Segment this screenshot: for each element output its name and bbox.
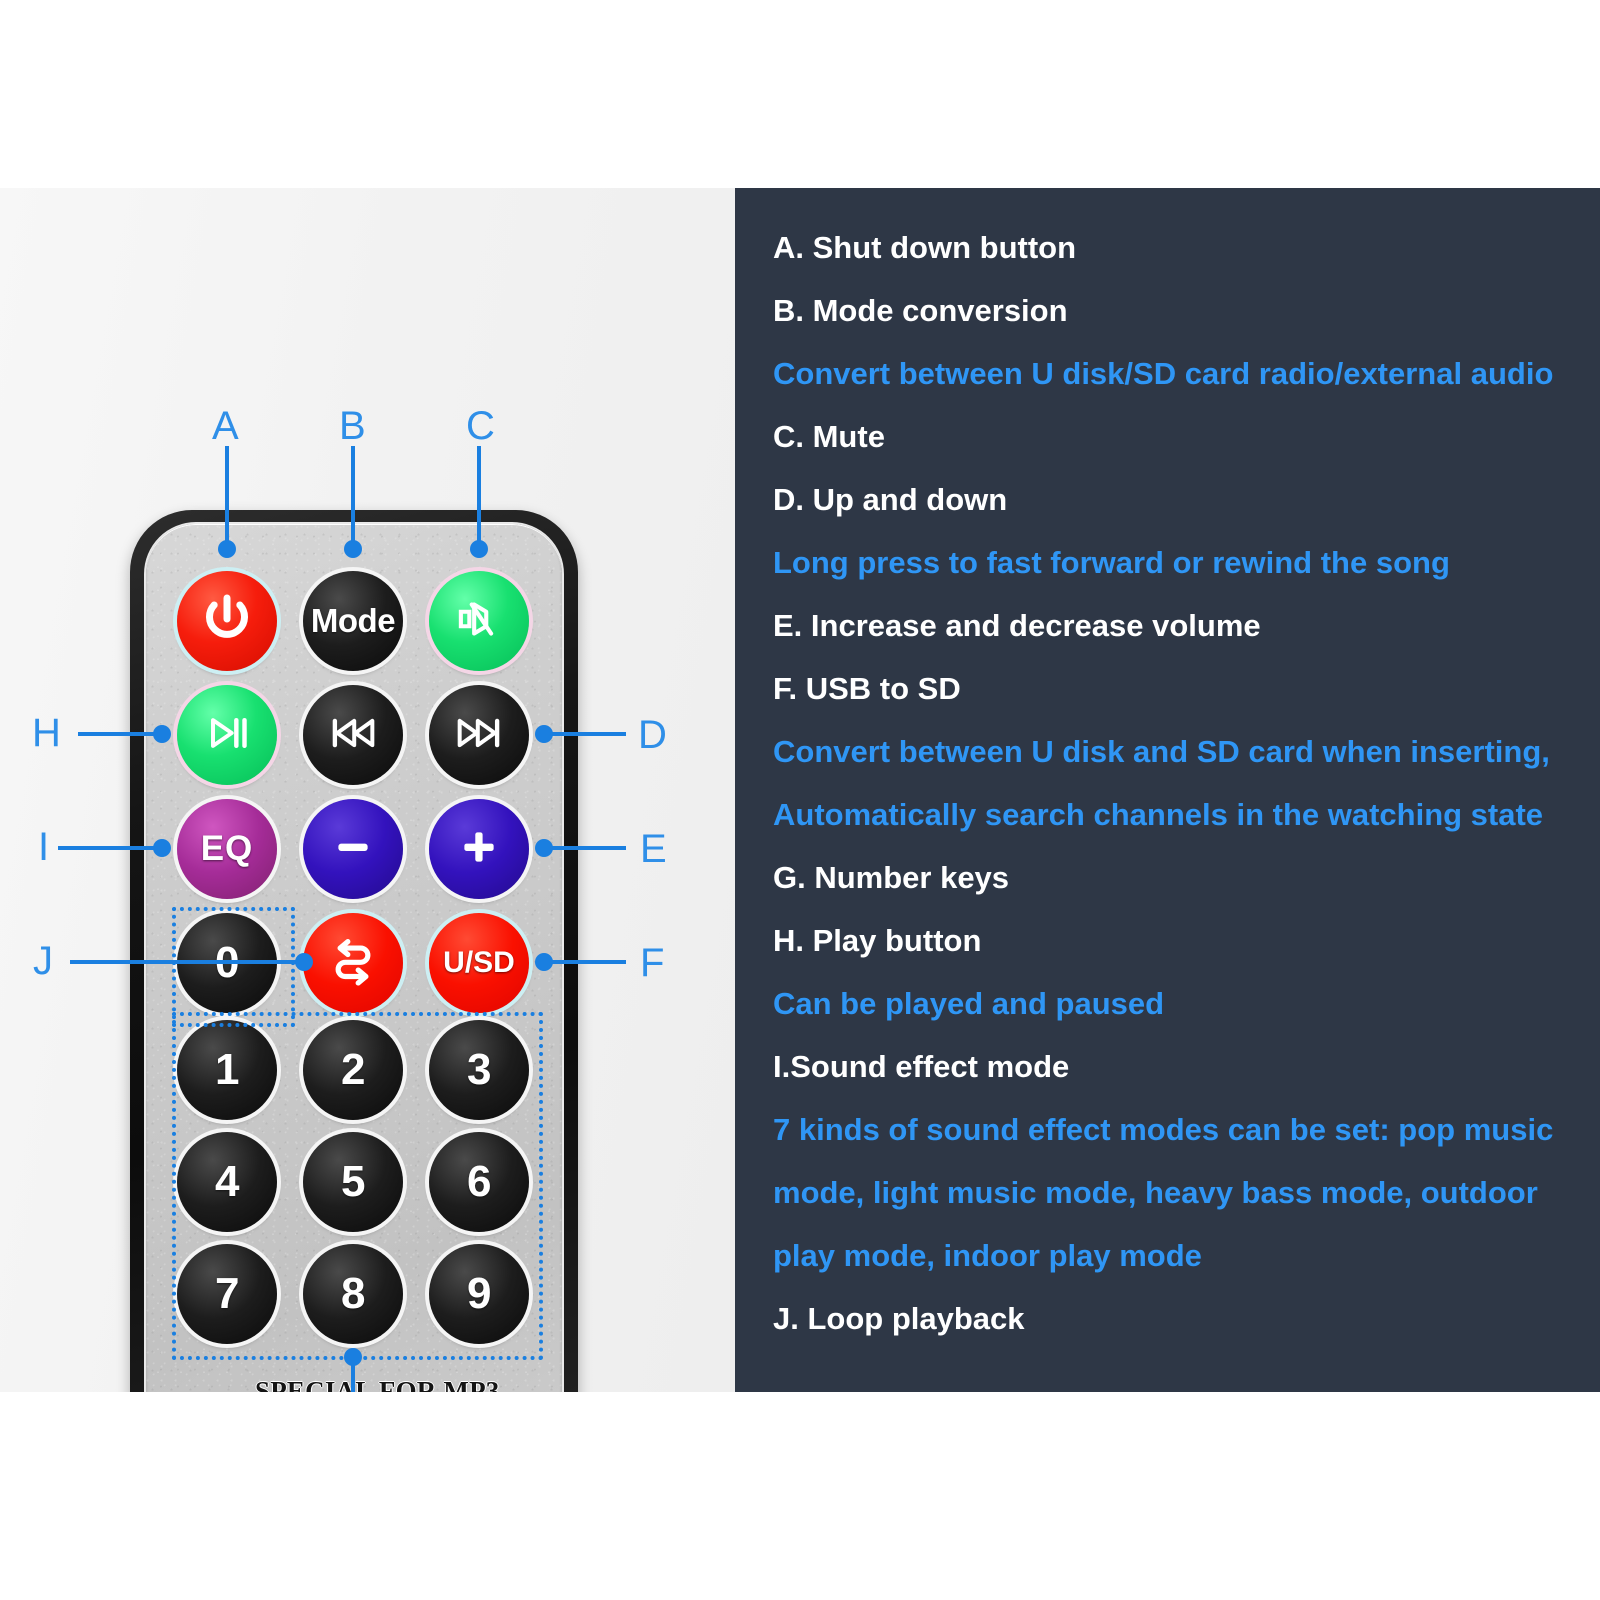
legend-g-title: G. Number keys — [773, 862, 1009, 893]
loop-key-highlight-box — [172, 907, 295, 1027]
legend-item-g: G. Number keys — [773, 846, 1590, 909]
legend-panel: A. Shut down button B. Mode conversion C… — [735, 188, 1600, 1392]
callout-e-line — [546, 846, 626, 850]
volume-up-button[interactable] — [429, 799, 529, 899]
mode-button-label: Mode — [311, 602, 395, 640]
legend-j-title: J. Loop playback — [773, 1303, 1025, 1334]
callout-i-dot — [153, 839, 171, 857]
legend-item-i: I.Sound effect mode — [773, 1035, 1590, 1098]
legend-item-b: B. Mode conversion — [773, 279, 1590, 342]
legend-a-title: A. Shut down button — [773, 232, 1076, 263]
usb-to-sd-button[interactable]: U/SD — [429, 913, 529, 1013]
legend-e-title: E. Increase and decrease volume — [773, 610, 1261, 641]
next-track-icon — [450, 704, 508, 767]
usb-to-sd-button-label: U/SD — [443, 946, 515, 980]
callout-e-label: E — [640, 829, 667, 869]
legend-item-c: C. Mute — [773, 405, 1590, 468]
callout-h-dot — [153, 725, 171, 743]
legend-i-desc-3: play mode, indoor play mode — [773, 1240, 1202, 1271]
brand-text: SPECIAL FOR MP3 — [255, 1376, 500, 1392]
plus-icon — [452, 820, 506, 879]
legend-item-f: F. USB to SD — [773, 657, 1590, 720]
screenshot-root: Mode — [0, 0, 1600, 1600]
previous-track-icon — [324, 704, 382, 767]
eq-button[interactable]: EQ — [177, 799, 277, 899]
callout-d-label: D — [638, 715, 667, 755]
next-track-button[interactable] — [429, 685, 529, 785]
callout-b-dot — [344, 540, 362, 558]
loop-playback-button[interactable] — [303, 913, 403, 1013]
eq-button-label: EQ — [201, 829, 254, 869]
legend-h-title: H. Play button — [773, 925, 981, 956]
legend-item-a: A. Shut down button — [773, 216, 1590, 279]
callout-i-line — [58, 846, 163, 850]
callout-e-dot — [535, 839, 553, 857]
legend-item-f-desc-1: Convert between U disk and SD card when … — [773, 720, 1590, 783]
minus-icon — [326, 820, 380, 879]
callout-a-line — [225, 446, 229, 549]
legend-b-desc: Convert between U disk/SD card radio/ext… — [773, 358, 1553, 389]
legend-f-desc-1: Convert between U disk and SD card when … — [773, 736, 1550, 767]
callout-c-dot — [470, 540, 488, 558]
power-icon — [199, 591, 255, 652]
legend-i-desc-1: 7 kinds of sound effect modes can be set… — [773, 1114, 1553, 1145]
play-pause-button[interactable] — [177, 685, 277, 785]
callout-b-label: B — [339, 406, 366, 446]
legend-item-d-desc: Long press to fast forward or rewind the… — [773, 531, 1590, 594]
callout-c-line — [477, 446, 481, 549]
number-keys-highlight-box — [172, 1012, 543, 1360]
callout-a-label: A — [212, 406, 239, 446]
legend-list: A. Shut down button B. Mode conversion C… — [773, 216, 1590, 1350]
callout-b-line — [351, 446, 355, 549]
callout-f-line — [546, 960, 626, 964]
legend-d-title: D. Up and down — [773, 484, 1007, 515]
legend-d-desc: Long press to fast forward or rewind the… — [773, 547, 1450, 578]
callout-a-dot — [218, 540, 236, 558]
callout-c-label: C — [466, 406, 495, 446]
callout-j-dot — [295, 953, 313, 971]
callout-d-dot — [535, 725, 553, 743]
legend-c-title: C. Mute — [773, 421, 885, 452]
mute-icon — [450, 590, 508, 653]
remote-photo-panel: Mode — [0, 188, 735, 1392]
callout-i-label: I — [38, 827, 49, 867]
callout-d-line — [546, 732, 626, 736]
callout-f-label: F — [640, 943, 664, 983]
legend-item-j: J. Loop playback — [773, 1287, 1590, 1350]
callout-h-line — [78, 732, 163, 736]
legend-item-e: E. Increase and decrease volume — [773, 594, 1590, 657]
legend-f-desc-2: Automatically search channels in the wat… — [773, 799, 1543, 830]
loop-repeat-icon — [322, 930, 384, 997]
callout-g-dot — [344, 1348, 362, 1366]
legend-b-title: B. Mode conversion — [773, 295, 1068, 326]
legend-item-i-desc-1: 7 kinds of sound effect modes can be set… — [773, 1098, 1590, 1161]
legend-item-d: D. Up and down — [773, 468, 1590, 531]
callout-h-label: H — [32, 713, 61, 753]
legend-item-i-desc-2: mode, light music mode, heavy bass mode,… — [773, 1161, 1590, 1224]
legend-i-title: I.Sound effect mode — [773, 1051, 1069, 1082]
play-pause-icon — [199, 705, 255, 766]
legend-f-title: F. USB to SD — [773, 673, 961, 704]
legend-item-b-desc: Convert between U disk/SD card radio/ext… — [773, 342, 1590, 405]
power-button[interactable] — [177, 571, 277, 671]
legend-item-h: H. Play button — [773, 909, 1590, 972]
legend-h-desc: Can be played and paused — [773, 988, 1164, 1019]
legend-item-f-desc-2: Automatically search channels in the wat… — [773, 783, 1590, 846]
legend-item-h-desc: Can be played and paused — [773, 972, 1590, 1035]
callout-j-label: J — [33, 941, 53, 981]
volume-down-button[interactable] — [303, 799, 403, 899]
mute-button[interactable] — [429, 571, 529, 671]
callout-j-line — [70, 960, 304, 964]
callout-f-dot — [535, 953, 553, 971]
mode-button[interactable]: Mode — [303, 571, 403, 671]
legend-i-desc-2: mode, light music mode, heavy bass mode,… — [773, 1177, 1538, 1208]
legend-item-i-desc-3: play mode, indoor play mode — [773, 1224, 1590, 1287]
previous-track-button[interactable] — [303, 685, 403, 785]
